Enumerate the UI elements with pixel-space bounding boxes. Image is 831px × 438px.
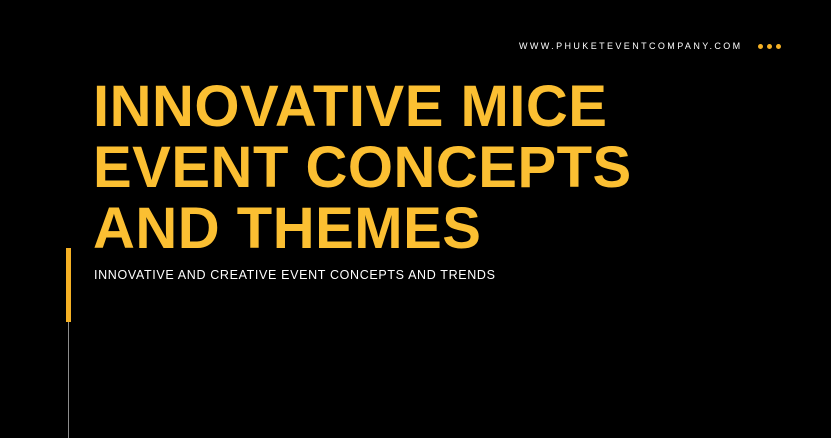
title-slide: WWW.PHUKETEVENTCOMPANY.COM INNOVATIVE MI… — [0, 0, 831, 438]
site-url-text: WWW.PHUKETEVENTCOMPANY.COM — [519, 38, 743, 54]
dot-icon-2 — [767, 44, 772, 49]
accent-divider-line — [68, 322, 69, 438]
headline-line-2: EVENT CONCEPTS — [93, 137, 632, 198]
accent-bar — [66, 248, 71, 322]
page-title: INNOVATIVE MICE EVENT CONCEPTS AND THEME… — [93, 76, 632, 259]
dot-icon-3 — [776, 44, 781, 49]
dot-icon-1 — [758, 44, 763, 49]
headline-line-1: INNOVATIVE MICE — [93, 76, 632, 137]
headline-line-3: AND THEMES — [93, 198, 632, 259]
three-dots-icon — [758, 44, 781, 49]
page-subtitle: INNOVATIVE AND CREATIVE EVENT CONCEPTS A… — [94, 267, 496, 283]
header-bar: WWW.PHUKETEVENTCOMPANY.COM — [519, 38, 781, 54]
